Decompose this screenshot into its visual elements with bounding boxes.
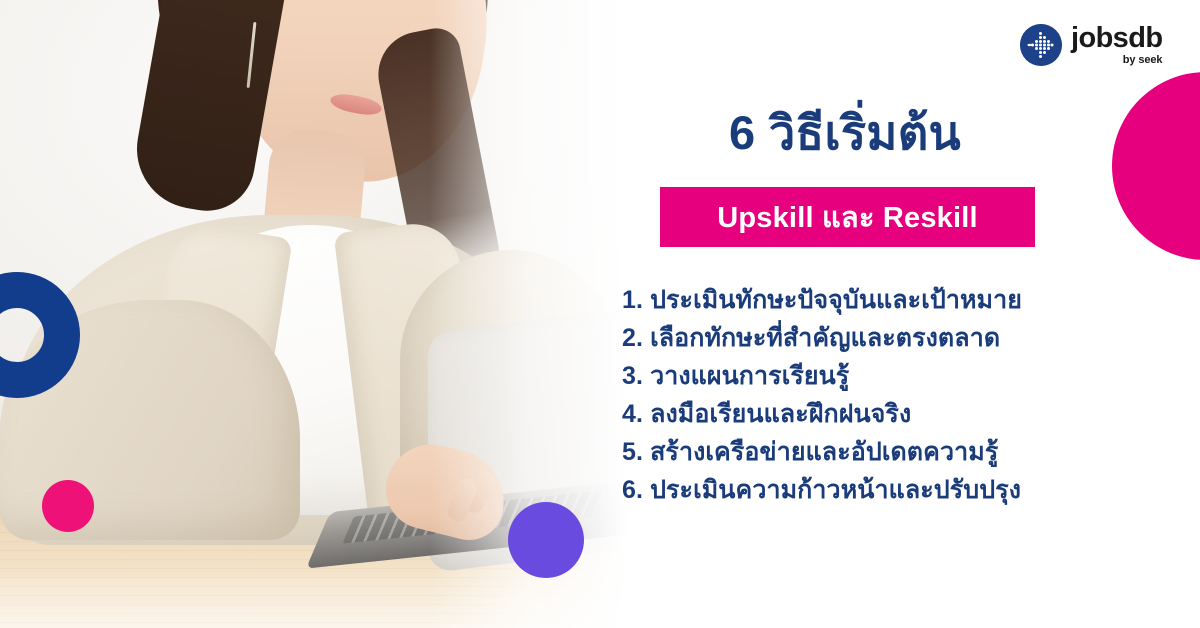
steps-list: 1. ประเมินทักษะปัจจุบันและเป้าหมาย 2. เล… (622, 281, 1022, 509)
logo-wordmark: jobsdb by seek (1071, 24, 1162, 66)
logo-name: jobsdb (1071, 24, 1162, 53)
headline: 6 วิธีเริ่มต้น (600, 106, 1090, 160)
list-item-label: วางแผนการเรียนรู้ (650, 357, 849, 395)
list-item-label: ประเมินความก้าวหน้าและปรับปรุง (650, 471, 1021, 509)
list-item-number: 3. (622, 357, 643, 395)
magenta-blob-shape (1112, 72, 1200, 260)
list-item-label: เลือกทักษะที่สำคัญและตรงตลาด (650, 319, 1000, 357)
jobsdb-logo[interactable]: jobsdb by seek (1020, 24, 1162, 66)
list-item-label: ลงมือเรียนและฝึกฝนจริง (650, 395, 911, 433)
list-item: 1. ประเมินทักษะปัจจุบันและเป้าหมาย (622, 281, 1022, 319)
pink-dot-shape (42, 480, 94, 532)
dotted-arrow-circle-icon (1020, 24, 1062, 66)
list-item: 6. ประเมินความก้าวหน้าและปรับปรุง (622, 471, 1022, 509)
list-item-label: สร้างเครือข่ายและอัปเดตความรู้ (650, 433, 998, 471)
purple-dot-shape (508, 502, 584, 578)
list-item-number: 1. (622, 281, 643, 319)
list-item-number: 5. (622, 433, 643, 471)
list-item: 5. สร้างเครือข่ายและอัปเดตความรู้ (622, 433, 1022, 471)
list-item-number: 4. (622, 395, 643, 433)
logo-tagline: by seek (1123, 55, 1163, 66)
list-item: 2. เลือกทักษะที่สำคัญและตรงตลาด (622, 319, 1022, 357)
subtitle-banner: Upskill และ Reskill (660, 187, 1035, 247)
list-item-number: 2. (622, 319, 643, 357)
subtitle-banner-text: Upskill และ Reskill (717, 194, 978, 240)
list-item-label: ประเมินทักษะปัจจุบันและเป้าหมาย (650, 281, 1022, 319)
list-item-number: 6. (622, 471, 643, 509)
list-item: 4. ลงมือเรียนและฝึกฝนจริง (622, 395, 1022, 433)
banner-canvas: jobsdb by seek 6 วิธีเริ่มต้น Upskill แล… (0, 0, 1200, 628)
list-item: 3. วางแผนการเรียนรู้ (622, 357, 1022, 395)
